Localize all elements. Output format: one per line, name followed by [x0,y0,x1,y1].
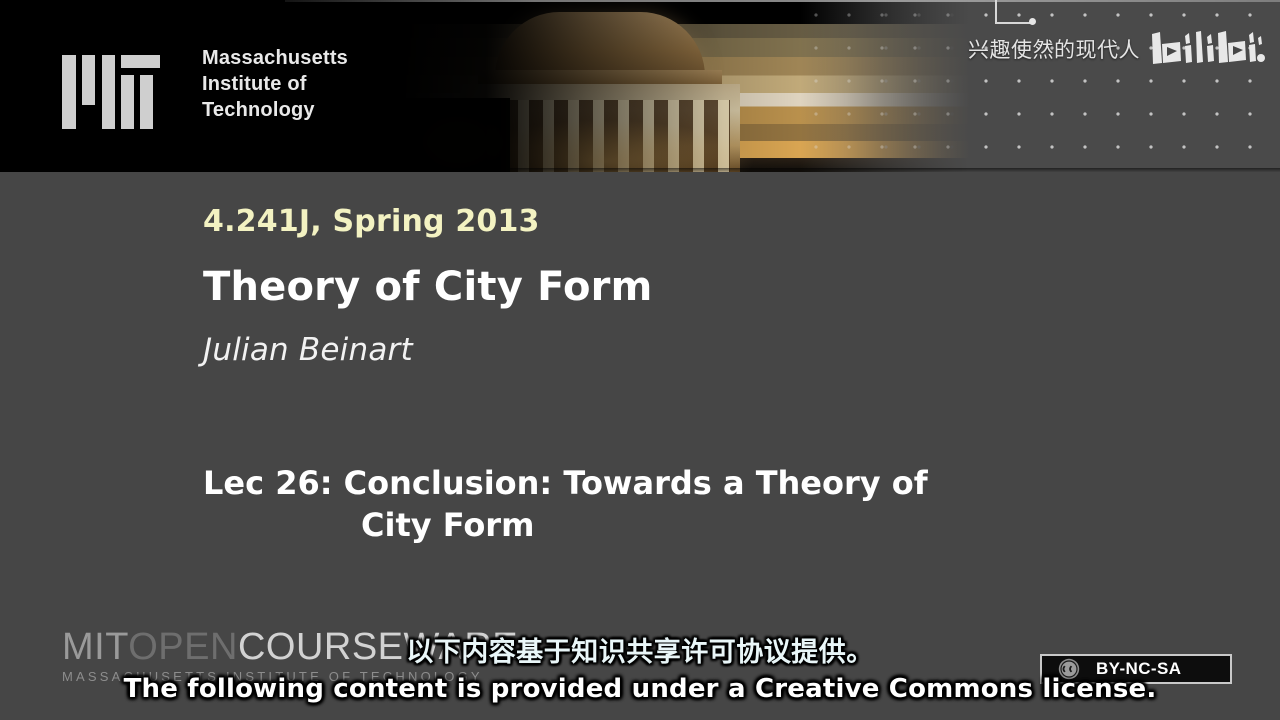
bracket-vertical-bar [995,0,997,24]
video-frame: Massachusetts Institute of Technology 兴趣… [0,0,1280,720]
mit-wordmark-line3: Technology [202,97,422,123]
bilibili-watermark: 兴趣使然的现代人 [968,30,1266,70]
mit-logo-bars-icon [62,47,160,129]
bracket-knob [1029,18,1036,25]
bilibili-logo-icon [1150,30,1266,70]
instructor-name: Julian Beinart [203,332,413,368]
lecture-title: Lec 26: Conclusion: Towards a Theory of … [203,462,1083,546]
banner-top-rule [285,0,1280,2]
mit-wordmark-line1: Massachusetts [202,45,422,71]
corner-bracket-decoration [975,0,1035,30]
mit-wordmark-line2: Institute of [202,71,422,97]
uploader-nickname: 兴趣使然的现代人 [968,38,1140,62]
bracket-horizontal-bar [995,22,1033,24]
mit-logo: Massachusetts Institute of Technology [62,47,362,132]
course-number-and-term: 4.241J, Spring 2013 [203,204,540,239]
mit-wordmark: Massachusetts Institute of Technology [202,45,422,123]
subtitle-english: The following content is provided under … [0,672,1280,706]
ocw-banner: Massachusetts Institute of Technology 兴趣… [0,0,1280,172]
lecture-title-line1: Lec 26: Conclusion: Towards a Theory of [203,464,928,502]
subtitle-overlay: 以下内容基于知识共享许可协议提供。 The following content … [0,636,1280,706]
lecture-title-line2: City Form [203,504,1083,546]
course-title: Theory of City Form [203,264,652,310]
subtitle-chinese: 以下内容基于知识共享许可协议提供。 [0,636,1280,670]
dot-grid-fade [800,0,970,172]
